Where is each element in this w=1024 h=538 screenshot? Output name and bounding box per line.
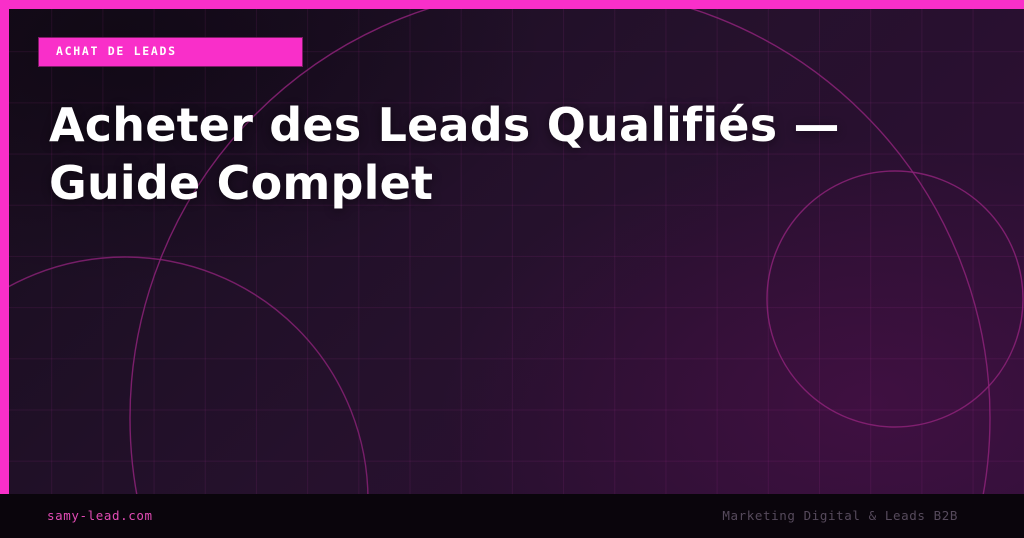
hero-banner: ACHAT DE LEADS Acheter des Leads Qualifi… (0, 0, 1024, 538)
left-accent-bar (0, 0, 9, 494)
banner-footer: samy-lead.com Marketing Digital & Leads … (0, 494, 1024, 538)
hero-content: ACHAT DE LEADS Acheter des Leads Qualifi… (0, 0, 1024, 494)
category-badge-label: ACHAT DE LEADS (56, 46, 177, 58)
top-accent-bar (0, 0, 1024, 9)
page-title: Acheter des Leads Qualifiés — Guide Comp… (49, 96, 949, 212)
category-badge: ACHAT DE LEADS (38, 37, 303, 67)
footer-tagline: Marketing Digital & Leads B2B (722, 510, 958, 523)
footer-site-url: samy-lead.com (47, 510, 153, 523)
